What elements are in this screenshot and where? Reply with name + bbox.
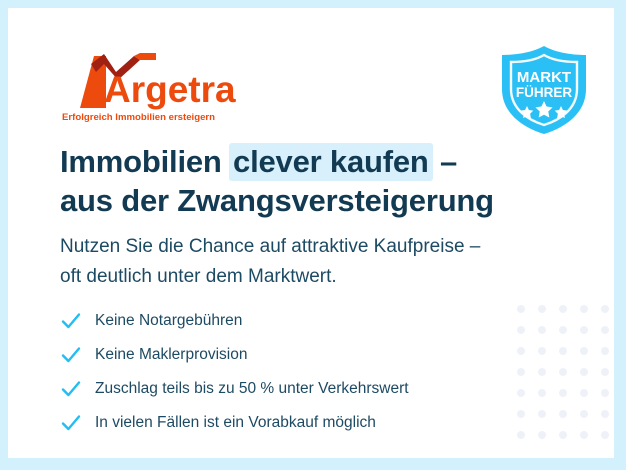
decorative-dot bbox=[559, 368, 567, 376]
benefit-item: Keine Notargebühren bbox=[60, 306, 530, 336]
decorative-dot bbox=[601, 389, 609, 397]
logo-wordmark: Argetra bbox=[104, 69, 236, 110]
page-title: Immobilien clever kaufen – aus der Zwang… bbox=[60, 142, 540, 220]
decorative-dot bbox=[538, 389, 546, 397]
decorative-dot bbox=[559, 326, 567, 334]
check-icon bbox=[60, 378, 82, 400]
decorative-dot bbox=[601, 347, 609, 355]
benefit-label: Keine Maklerprovision bbox=[95, 347, 248, 363]
decorative-dot bbox=[580, 347, 588, 355]
markt-fuehrer-badge: MARKT FÜHRER bbox=[496, 44, 592, 136]
badge-line2: FÜHRER bbox=[516, 85, 572, 100]
benefit-item: Zuschlag teils bis zu 50 % unter Verkehr… bbox=[60, 374, 530, 404]
headline-highlight: clever kaufen bbox=[229, 143, 433, 181]
badge-line1: MARKT bbox=[517, 69, 571, 86]
decorative-dot bbox=[559, 347, 567, 355]
decorative-dot bbox=[601, 305, 609, 313]
decorative-dot bbox=[580, 389, 588, 397]
decorative-dot bbox=[538, 410, 546, 418]
decorative-dot bbox=[559, 410, 567, 418]
decorative-dot bbox=[580, 368, 588, 376]
banner-frame: Argetra Erfolgreich Immobilien ersteiger… bbox=[0, 0, 626, 470]
decorative-dot bbox=[538, 347, 546, 355]
logo-tagline: Erfolgreich Immobilien ersteigern bbox=[62, 112, 215, 123]
decorative-dot bbox=[601, 410, 609, 418]
subheadline-line1: Nutzen Sie die Chance auf attraktive Kau… bbox=[60, 236, 480, 257]
decorative-dot bbox=[559, 389, 567, 397]
check-icon bbox=[60, 344, 82, 366]
decorative-dot bbox=[580, 431, 588, 439]
decorative-dot bbox=[601, 431, 609, 439]
decorative-dot bbox=[559, 431, 567, 439]
decorative-dot bbox=[580, 305, 588, 313]
decorative-dot-grid bbox=[517, 305, 613, 458]
benefit-label: Keine Notargebühren bbox=[95, 313, 242, 329]
check-icon bbox=[60, 310, 82, 332]
headline-line2: aus der Zwangsversteigerung bbox=[60, 181, 540, 220]
decorative-dot bbox=[580, 410, 588, 418]
benefit-label: Zuschlag teils bis zu 50 % unter Verkehr… bbox=[95, 381, 409, 397]
decorative-dot bbox=[601, 326, 609, 334]
argetra-logo: Argetra Erfolgreich Immobilien ersteiger… bbox=[60, 50, 260, 128]
subheadline: Nutzen Sie die Chance auf attraktive Kau… bbox=[60, 232, 550, 292]
banner-card: Argetra Erfolgreich Immobilien ersteiger… bbox=[8, 8, 614, 458]
benefit-item: Keine Maklerprovision bbox=[60, 340, 530, 370]
benefit-label: In vielen Fällen ist ein Vorabkauf mögli… bbox=[95, 415, 376, 431]
headline-part1: Immobilien bbox=[60, 144, 230, 179]
decorative-dot bbox=[538, 305, 546, 313]
decorative-dot bbox=[538, 326, 546, 334]
check-icon bbox=[60, 412, 82, 434]
benefit-item: In vielen Fällen ist ein Vorabkauf mögli… bbox=[60, 408, 530, 438]
decorative-dot bbox=[601, 368, 609, 376]
decorative-dot bbox=[580, 326, 588, 334]
benefits-list: Keine NotargebührenKeine Maklerprovision… bbox=[60, 306, 530, 442]
subheadline-line2: oft deutlich unter dem Marktwert. bbox=[60, 262, 550, 292]
decorative-dot bbox=[538, 431, 546, 439]
decorative-dot bbox=[559, 305, 567, 313]
headline-part2: – bbox=[432, 144, 457, 179]
decorative-dot bbox=[538, 368, 546, 376]
